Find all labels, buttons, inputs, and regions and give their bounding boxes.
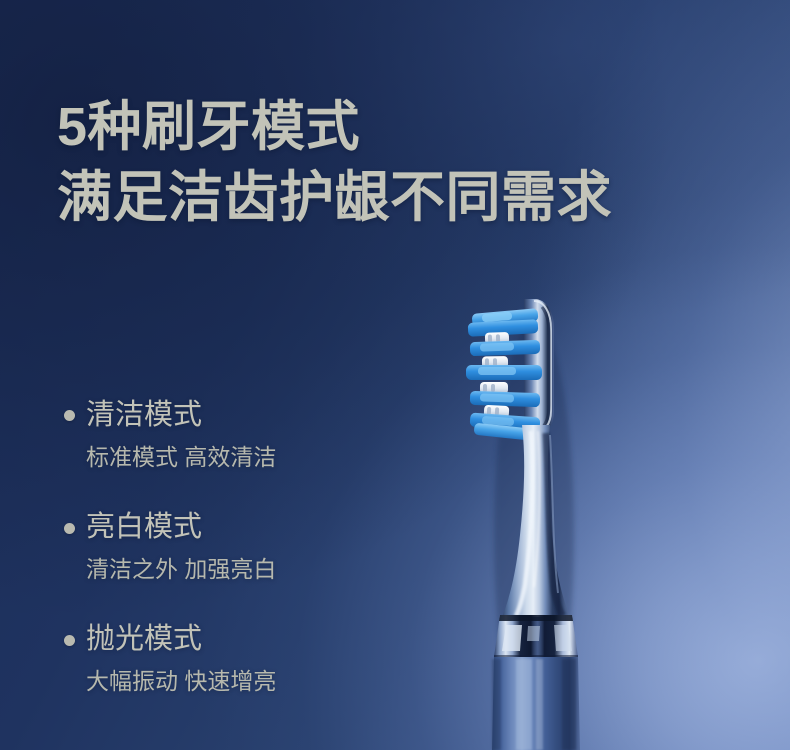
bullet-dot-icon xyxy=(64,635,75,646)
mode-title: 抛光模式 xyxy=(86,624,202,656)
mode-title: 亮白模式 xyxy=(86,512,202,544)
bullet-dot-icon xyxy=(64,410,75,421)
mode-title: 清洁模式 xyxy=(86,400,202,432)
headline-line-1: 5种刷牙模式 xyxy=(57,92,612,162)
headline-block: 5种刷牙模式 满足洁齿护龈不同需求 xyxy=(57,92,612,234)
mode-subtitle: 大幅振动 快速增亮 xyxy=(86,669,276,694)
brush-collar xyxy=(494,615,578,659)
list-item: 抛光模式 大幅振动 快速增亮 xyxy=(64,624,276,694)
bullet-dot-icon xyxy=(64,523,75,534)
mode-heading: 清洁模式 xyxy=(64,400,276,432)
electric-toothbrush-image xyxy=(430,285,650,750)
list-item: 清洁模式 标准模式 高效清洁 xyxy=(64,400,276,470)
mode-list: 清洁模式 标准模式 高效清洁 亮白模式 清洁之外 加强亮白 抛光模式 大幅振动 … xyxy=(64,400,276,695)
mode-subtitle: 标准模式 高效清洁 xyxy=(86,445,276,470)
mode-subtitle: 清洁之外 加强亮白 xyxy=(86,557,276,582)
product-marketing-banner: 5种刷牙模式 满足洁齿护龈不同需求 清洁模式 标准模式 高效清洁 亮白模式 清洁… xyxy=(0,0,790,750)
mode-heading: 抛光模式 xyxy=(64,624,276,656)
mode-heading: 亮白模式 xyxy=(64,512,276,544)
list-item: 亮白模式 清洁之外 加强亮白 xyxy=(64,512,276,582)
brush-handle xyxy=(492,657,580,750)
bristle-tufts xyxy=(466,308,542,441)
headline-line-2: 满足洁齿护龈不同需求 xyxy=(57,162,612,234)
